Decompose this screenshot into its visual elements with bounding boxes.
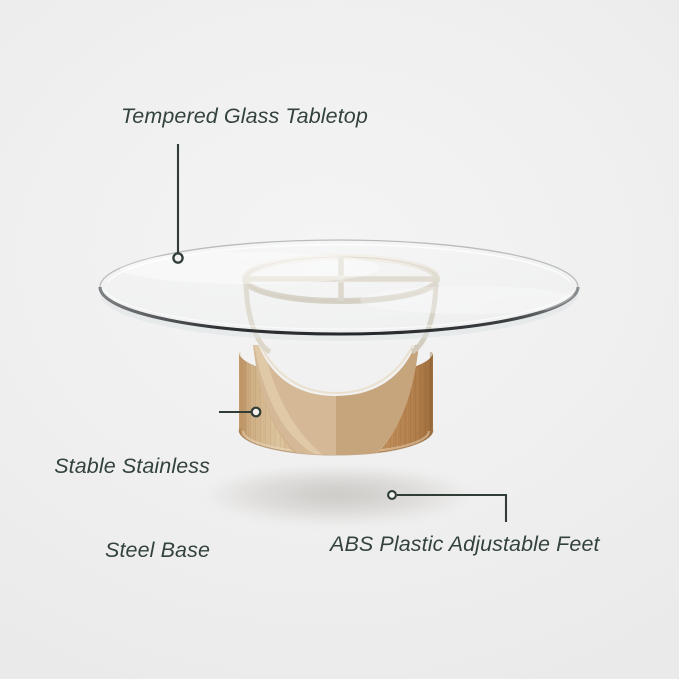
callout-label-feet: ABS Plastic Adjustable Feet bbox=[330, 531, 600, 559]
leader-line-feet bbox=[397, 495, 506, 522]
product-callout-image: Tempered Glass Tabletop Stable Stainless… bbox=[0, 0, 679, 679]
marker-base[interactable] bbox=[252, 408, 261, 417]
marker-tabletop[interactable] bbox=[173, 253, 182, 262]
callout-label-base-line1: Stable Stainless bbox=[22, 453, 210, 481]
marker-feet[interactable] bbox=[388, 491, 396, 499]
callout-label-base: Stable Stainless Steel Base bbox=[22, 397, 210, 621]
callout-label-base-line2: Steel Base bbox=[22, 537, 210, 565]
callout-label-tabletop: Tempered Glass Tabletop bbox=[121, 103, 368, 131]
